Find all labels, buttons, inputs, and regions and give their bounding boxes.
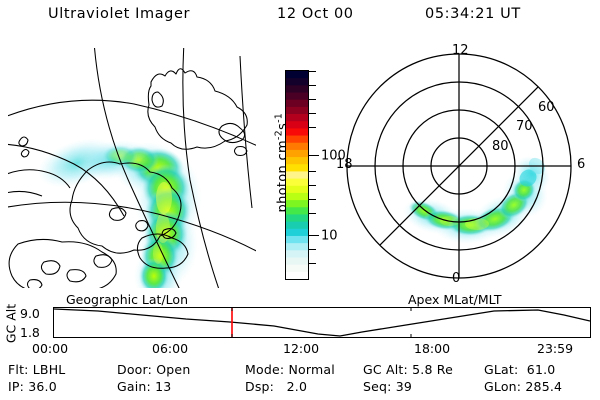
orbit-ytick-low: 1.8 [20,327,40,340]
status-flt: Flt: LBHL [8,362,65,377]
orbit-xtick-0600: 06:00 [152,341,188,356]
colorbar-tick [309,263,316,264]
status-ip-label: IP: [8,379,24,394]
status-gain-value: 13 [155,379,171,394]
orbit-ytick-high: 9.0 [20,308,40,321]
status-dsp-value: 2.0 [287,379,307,394]
status-gcalt-label: GC Alt: [363,362,408,377]
mlat-label-60: 60 [538,101,555,114]
polar-mlt-svg [332,44,594,294]
status-gcalt: GC Alt: 5.8 Re [363,362,453,377]
geographic-panel-title: Geographic Lat/Lon [66,292,188,307]
status-door-label: Door: [117,362,152,377]
uvi-display: Ultraviolet Imager 12 Oct 00 05:34:21 UT [0,0,600,400]
orbit-altitude-trace [54,309,590,336]
polar-aurora-layer [399,149,558,247]
colorbar-tick [309,185,316,186]
status-panel: Flt: LBHL Door: Open Mode: Normal GC Alt… [0,362,600,398]
orbit-altitude-plot[interactable] [53,307,591,338]
status-door-value: Open [156,362,190,377]
colorbar-tick [309,171,316,172]
colorbar-gradient-box [285,70,309,280]
colorbar-tick [309,199,316,200]
aurora-emission-layer [31,129,202,288]
colorbar-tick [309,99,316,100]
status-mode-label: Mode: [245,362,284,377]
status-door: Door: Open [117,362,190,377]
status-dsp-label: Dsp: [245,379,274,394]
orbit-xtick-1800: 18:00 [414,341,450,356]
status-glon: GLon: 285.4 [484,379,562,394]
mlt-label-6: 6 [577,158,585,171]
status-glat-label: GLat: [484,362,518,377]
colorbar-tick [309,127,316,128]
status-glon-value: 285.4 [525,379,562,394]
status-seq-label: Seq: [363,379,392,394]
colorbar-tick [309,249,316,250]
orbit-xtick-2359: 23:59 [537,341,573,356]
colorbar-tick [309,213,316,214]
colorbar-unit-exp2: -1 [273,113,284,123]
orbit-y-axis-label: GC Alt [4,300,18,346]
orbit-xtick-1200: 12:00 [283,341,319,356]
status-flt-value: LBHL [33,362,66,377]
orbit-panel-titles: Geographic Lat/Lon Apex MLat/MLT [0,292,600,308]
colorbar-tick [309,71,316,72]
polar-mlt-panel[interactable]: 12 6 18 0 60 70 80 [332,44,594,294]
status-flt-label: Flt: [8,362,29,377]
status-seq: Seq: 39 [363,379,412,394]
status-glon-label: GLon: [484,379,521,394]
status-gain: Gain: 13 [117,379,171,394]
observation-date: 12 Oct 00 [277,6,354,26]
colorbar-tick [309,85,316,86]
mlt-label-18: 18 [336,158,353,171]
polar-grid [347,54,571,278]
status-mode-value: Normal [288,362,334,377]
geographic-map-panel[interactable] [8,48,256,288]
colorbar-tick-major [309,155,319,156]
geographic-map-svg [8,48,256,288]
status-glat-value: 61.0 [527,362,556,377]
status-seq-value: 39 [396,379,412,394]
mlt-label-0: 0 [452,272,460,285]
mlat-label-80: 80 [492,140,509,153]
status-gain-label: Gain: [117,379,151,394]
status-ip-value: 36.0 [28,379,57,394]
observation-time: 05:34:21 UT [425,6,521,26]
status-glat: GLat: 61.0 [484,362,555,377]
status-mode: Mode: Normal [245,362,335,377]
page-title: Ultraviolet Imager [48,6,190,26]
status-gcalt-value: 5.8 Re [412,362,453,377]
mlt-label-12: 12 [452,44,469,57]
colorbar-unit-exp1: -2 [273,130,284,140]
status-dsp: Dsp: 2.0 [245,379,307,394]
colorbar-tick [309,113,316,114]
colorbar-gradient [286,71,308,279]
mlat-label-70: 70 [516,120,533,133]
status-ip: IP: 36.0 [8,379,57,394]
polar-panel-title: Apex MLat/MLT [408,292,502,307]
orbit-y-axis-label-text: GC Alt [4,302,19,346]
colorbar-tick-major [309,235,319,236]
orbit-xtick-0000: 00:00 [32,341,68,356]
orbit-altitude-svg [54,308,590,337]
